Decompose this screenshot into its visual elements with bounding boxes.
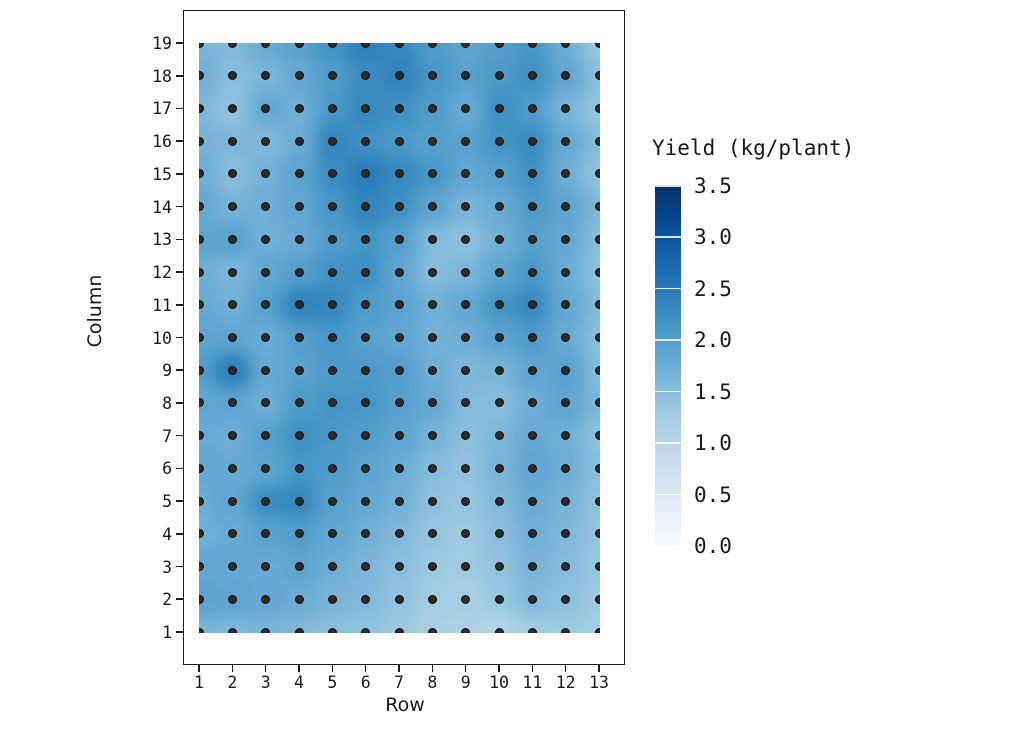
data-point-marker — [561, 595, 570, 604]
data-point-marker — [199, 300, 204, 309]
data-point-marker — [361, 529, 370, 538]
data-point-marker — [461, 268, 470, 277]
data-point-marker — [328, 529, 337, 538]
data-point-marker — [428, 562, 437, 571]
data-point-marker — [228, 464, 237, 473]
data-point-marker — [461, 43, 470, 48]
x-tick-mark — [532, 665, 534, 672]
data-point-marker — [199, 366, 204, 375]
data-point-marker — [461, 366, 470, 375]
data-point-marker — [361, 268, 370, 277]
data-point-marker — [228, 202, 237, 211]
data-point-marker — [561, 169, 570, 178]
data-point-marker — [261, 366, 270, 375]
data-point-marker — [461, 137, 470, 146]
data-point-marker — [295, 71, 304, 80]
data-point-marker — [228, 71, 237, 80]
data-point-marker — [561, 562, 570, 571]
data-point-marker — [261, 169, 270, 178]
data-point-marker — [328, 43, 337, 48]
data-point-marker — [395, 497, 404, 506]
data-point-marker — [395, 71, 404, 80]
data-point-marker — [428, 137, 437, 146]
data-point-marker — [295, 137, 304, 146]
data-point-marker — [228, 43, 237, 48]
data-point-marker — [561, 628, 570, 634]
data-point-marker — [228, 595, 237, 604]
data-point-marker — [395, 398, 404, 407]
y-tick-label: 5 — [140, 492, 172, 511]
data-point-marker — [395, 169, 404, 178]
data-point-marker — [428, 300, 437, 309]
data-point-marker — [528, 333, 537, 342]
data-point-marker — [495, 333, 504, 342]
data-point-marker — [595, 43, 601, 48]
data-point-marker — [199, 464, 204, 473]
data-point-marker — [428, 529, 437, 538]
data-point-marker — [595, 202, 601, 211]
y-tick-mark — [176, 140, 183, 142]
y-tick-mark — [176, 239, 183, 241]
data-point-marker — [361, 137, 370, 146]
y-tick-mark — [176, 206, 183, 208]
y-tick-mark — [176, 173, 183, 175]
data-point-marker — [395, 235, 404, 244]
data-point-marker — [228, 366, 237, 375]
data-point-marker — [361, 366, 370, 375]
data-point-marker — [199, 71, 204, 80]
data-point-marker — [495, 628, 504, 634]
data-point-marker — [199, 431, 204, 440]
data-point-marker — [495, 169, 504, 178]
data-point-marker — [199, 268, 204, 277]
colorbar-tick-mark — [655, 185, 681, 187]
colorbar-tick-label: 2.5 — [694, 277, 732, 301]
data-point-marker — [361, 595, 370, 604]
data-point-marker — [295, 366, 304, 375]
data-point-marker — [561, 497, 570, 506]
y-tick-mark — [176, 42, 183, 44]
data-point-marker — [528, 398, 537, 407]
data-point-marker — [395, 104, 404, 113]
data-point-marker — [261, 398, 270, 407]
data-point-marker — [361, 300, 370, 309]
data-point-marker — [428, 71, 437, 80]
data-point-marker — [199, 398, 204, 407]
data-point-marker — [228, 529, 237, 538]
data-point-marker — [428, 235, 437, 244]
y-tick-mark — [176, 369, 183, 371]
figure-canvas: 12345678910111213141516171819 1234567891… — [0, 0, 1024, 731]
data-point-marker — [461, 333, 470, 342]
data-point-marker — [361, 104, 370, 113]
data-point-marker — [595, 235, 601, 244]
data-point-marker — [595, 431, 601, 440]
data-point-marker — [228, 628, 237, 634]
data-point-marker — [561, 333, 570, 342]
data-point-marker — [228, 235, 237, 244]
data-point-marker — [261, 333, 270, 342]
data-point-marker — [361, 628, 370, 634]
data-point-marker — [528, 235, 537, 244]
data-point-marker — [595, 464, 601, 473]
y-tick-label: 10 — [140, 329, 172, 348]
colorbar-tick-mark — [655, 442, 681, 444]
y-tick-label: 4 — [140, 525, 172, 544]
data-point-marker — [395, 562, 404, 571]
data-point-marker — [199, 628, 204, 634]
data-point-marker — [328, 333, 337, 342]
data-point-marker — [561, 235, 570, 244]
data-point-marker — [561, 366, 570, 375]
data-point-marker — [395, 431, 404, 440]
y-tick-label: 9 — [140, 361, 172, 380]
y-tick-mark — [176, 598, 183, 600]
data-point-marker — [261, 43, 270, 48]
data-point-marker — [361, 169, 370, 178]
data-point-marker — [595, 398, 601, 407]
data-point-marker — [561, 268, 570, 277]
data-point-marker — [395, 333, 404, 342]
data-point-marker — [528, 104, 537, 113]
data-point-marker — [199, 595, 204, 604]
data-point-marker — [428, 104, 437, 113]
data-point-marker — [528, 202, 537, 211]
x-tick-mark — [565, 665, 567, 672]
data-point-marker — [495, 595, 504, 604]
y-tick-label: 15 — [140, 165, 172, 184]
data-point-marker — [495, 71, 504, 80]
data-point-marker — [461, 202, 470, 211]
data-point-marker — [199, 333, 204, 342]
x-tick-mark — [265, 665, 267, 672]
data-point-marker — [295, 595, 304, 604]
data-point-marker — [528, 497, 537, 506]
data-point-marker — [228, 268, 237, 277]
data-point-marker — [295, 497, 304, 506]
data-point-marker — [528, 529, 537, 538]
data-point-marker — [495, 529, 504, 538]
data-point-marker — [361, 333, 370, 342]
data-point-marker — [428, 398, 437, 407]
x-tick-mark — [465, 665, 467, 672]
data-point-marker — [395, 366, 404, 375]
data-point-marker — [428, 497, 437, 506]
data-point-marker — [561, 43, 570, 48]
y-tick-label: 18 — [140, 67, 172, 86]
data-point-marker — [328, 464, 337, 473]
data-point-marker — [495, 137, 504, 146]
data-point-marker — [395, 137, 404, 146]
data-point-marker — [495, 104, 504, 113]
y-tick-mark — [176, 533, 183, 535]
data-point-marker — [228, 169, 237, 178]
data-point-marker — [461, 398, 470, 407]
data-point-marker — [395, 43, 404, 48]
data-point-marker — [595, 268, 601, 277]
colorbar — [655, 185, 681, 545]
data-point-marker — [361, 398, 370, 407]
data-point-marker — [228, 137, 237, 146]
y-tick-label: 3 — [140, 558, 172, 577]
data-point-marker — [328, 300, 337, 309]
data-point-marker — [295, 169, 304, 178]
colorbar-tick-label: 1.0 — [694, 431, 732, 455]
data-point-marker — [561, 398, 570, 407]
data-point-marker — [261, 628, 270, 634]
data-point-marker — [261, 529, 270, 538]
data-point-marker — [461, 169, 470, 178]
data-point-marker — [199, 104, 204, 113]
data-point-marker — [295, 628, 304, 634]
data-point-marker — [561, 300, 570, 309]
y-tick-mark — [176, 337, 183, 339]
y-tick-label: 1 — [140, 623, 172, 642]
data-point-marker — [361, 43, 370, 48]
x-tick-mark — [498, 665, 500, 672]
x-axis-label: Row — [0, 694, 810, 716]
y-tick-label: 6 — [140, 459, 172, 478]
data-point-marker — [228, 300, 237, 309]
data-point-marker — [261, 562, 270, 571]
data-point-marker — [261, 300, 270, 309]
data-point-marker — [228, 398, 237, 407]
data-point-marker — [495, 398, 504, 407]
y-tick-mark — [176, 631, 183, 633]
y-axis-label: Column — [84, 211, 106, 411]
data-point-marker — [461, 497, 470, 506]
data-point-marker — [199, 497, 204, 506]
colorbar-tick-label: 3.5 — [694, 174, 732, 198]
data-point-marker — [199, 137, 204, 146]
data-point-marker — [595, 628, 601, 634]
data-point-marker — [561, 71, 570, 80]
data-point-marker — [428, 202, 437, 211]
data-point-marker — [228, 497, 237, 506]
data-point-marker — [199, 529, 204, 538]
data-point-marker — [561, 137, 570, 146]
x-tick-label: 13 — [579, 673, 619, 692]
data-point-marker — [328, 71, 337, 80]
data-point-marker — [361, 562, 370, 571]
data-point-marker — [495, 497, 504, 506]
data-point-marker — [328, 268, 337, 277]
data-point-marker — [199, 169, 204, 178]
colorbar-title: Yield (kg/plant) — [652, 136, 854, 160]
colorbar-tick-mark — [655, 288, 681, 290]
data-point-marker — [528, 300, 537, 309]
data-point-marker — [495, 235, 504, 244]
data-point-marker — [361, 431, 370, 440]
data-point-marker — [428, 333, 437, 342]
y-tick-label: 12 — [140, 263, 172, 282]
data-point-marker — [328, 562, 337, 571]
data-point-marker — [595, 333, 601, 342]
data-point-marker — [595, 104, 601, 113]
data-point-marker — [261, 268, 270, 277]
data-point-marker — [528, 71, 537, 80]
colorbar-tick-mark — [655, 236, 681, 238]
x-tick-mark — [332, 665, 334, 672]
data-point-marker — [395, 628, 404, 634]
data-point-marker — [328, 595, 337, 604]
heatmap-area — [199, 43, 600, 633]
data-point-marker — [295, 268, 304, 277]
y-tick-label: 13 — [140, 230, 172, 249]
colorbar-tick-label: 0.5 — [694, 483, 732, 507]
data-point-marker — [561, 529, 570, 538]
data-point-marker — [261, 235, 270, 244]
data-point-marker — [395, 202, 404, 211]
data-point-marker — [395, 268, 404, 277]
data-point-marker — [428, 268, 437, 277]
data-point-marker — [461, 71, 470, 80]
data-point-marker — [428, 595, 437, 604]
data-point-marker — [495, 202, 504, 211]
data-point-marker — [528, 43, 537, 48]
data-point-marker — [328, 104, 337, 113]
x-tick-mark — [365, 665, 367, 672]
data-point-marker — [261, 202, 270, 211]
data-point-marker — [328, 202, 337, 211]
data-point-marker — [495, 43, 504, 48]
y-tick-label: 8 — [140, 394, 172, 413]
data-point-marker — [228, 104, 237, 113]
data-point-marker — [528, 268, 537, 277]
y-tick-label: 17 — [140, 99, 172, 118]
data-point-marker — [461, 628, 470, 634]
data-point-marker — [328, 628, 337, 634]
colorbar-tick-mark — [655, 339, 681, 341]
data-point-marker — [495, 562, 504, 571]
y-tick-mark — [176, 402, 183, 404]
data-point-marker — [461, 300, 470, 309]
y-tick-mark — [176, 304, 183, 306]
data-point-marker — [561, 202, 570, 211]
data-point-marker — [461, 104, 470, 113]
data-point-marker — [395, 595, 404, 604]
y-tick-label: 7 — [140, 427, 172, 446]
data-point-marker — [528, 562, 537, 571]
data-point-marker — [595, 529, 601, 538]
data-point-marker — [495, 464, 504, 473]
data-point-marker — [361, 497, 370, 506]
data-point-marker — [295, 300, 304, 309]
data-point-marker — [261, 137, 270, 146]
x-tick-mark — [198, 665, 200, 672]
data-point-marker — [561, 464, 570, 473]
colorbar-tick-mark — [655, 494, 681, 496]
data-point-marker — [428, 464, 437, 473]
data-point-marker — [428, 628, 437, 634]
data-point-marker — [495, 366, 504, 375]
data-point-marker — [428, 431, 437, 440]
data-point-marker — [295, 104, 304, 113]
data-point-marker — [528, 595, 537, 604]
x-tick-mark — [398, 665, 400, 672]
data-point-marker — [295, 43, 304, 48]
y-tick-mark — [176, 435, 183, 437]
y-tick-label: 2 — [140, 590, 172, 609]
data-point-marker — [528, 137, 537, 146]
data-point-marker — [395, 529, 404, 538]
data-point-marker — [595, 366, 601, 375]
data-point-marker — [361, 71, 370, 80]
data-point-marker — [528, 169, 537, 178]
data-point-marker — [595, 497, 601, 506]
data-point-marker — [428, 169, 437, 178]
data-point-marker — [595, 137, 601, 146]
data-point-marker — [528, 366, 537, 375]
data-point-marker — [328, 398, 337, 407]
y-tick-label: 19 — [140, 34, 172, 53]
data-point-marker — [361, 464, 370, 473]
y-tick-mark — [176, 75, 183, 77]
colorbar-tick-label: 2.0 — [694, 328, 732, 352]
y-tick-mark — [176, 468, 183, 470]
data-point-marker — [295, 202, 304, 211]
data-point-marker — [199, 235, 204, 244]
data-point-marker — [328, 497, 337, 506]
data-point-marker — [561, 431, 570, 440]
data-point-marker — [595, 595, 601, 604]
data-point-marker — [295, 398, 304, 407]
data-point-marker — [328, 235, 337, 244]
colorbar-tick-label: 1.5 — [694, 380, 732, 404]
data-point-marker — [295, 431, 304, 440]
data-point-marker — [561, 104, 570, 113]
y-tick-mark — [176, 500, 183, 502]
y-tick-mark — [176, 108, 183, 110]
data-point-marker — [461, 235, 470, 244]
data-point-marker — [199, 202, 204, 211]
data-point-marker — [595, 300, 601, 309]
colorbar-tick-label: 0.0 — [694, 534, 732, 558]
data-point-marker — [595, 169, 601, 178]
colorbar-tick-mark — [655, 545, 681, 547]
colorbar-gradient — [655, 185, 681, 545]
x-tick-mark — [232, 665, 234, 672]
y-tick-label: 14 — [140, 198, 172, 217]
data-point-marker — [395, 464, 404, 473]
data-point-marker — [495, 300, 504, 309]
data-point-marker — [461, 431, 470, 440]
data-point-marker — [295, 562, 304, 571]
data-point-marker — [361, 202, 370, 211]
data-point-marker — [461, 562, 470, 571]
data-point-marker — [199, 43, 204, 48]
y-tick-mark — [176, 271, 183, 273]
x-tick-mark — [432, 665, 434, 672]
data-point-marker — [295, 529, 304, 538]
data-point-marker — [295, 235, 304, 244]
data-point-marker — [328, 169, 337, 178]
data-point-marker — [261, 104, 270, 113]
data-point-marker — [495, 268, 504, 277]
data-point-marker — [295, 464, 304, 473]
data-point-marker — [461, 595, 470, 604]
data-point-marker — [528, 628, 537, 634]
data-point-marker — [228, 431, 237, 440]
data-point-marker — [528, 431, 537, 440]
data-point-marker — [495, 431, 504, 440]
data-point-marker — [261, 431, 270, 440]
y-tick-label: 16 — [140, 132, 172, 151]
data-point-marker — [228, 562, 237, 571]
data-point-marker — [595, 71, 601, 80]
data-point-marker — [199, 562, 204, 571]
data-point-marker — [361, 235, 370, 244]
